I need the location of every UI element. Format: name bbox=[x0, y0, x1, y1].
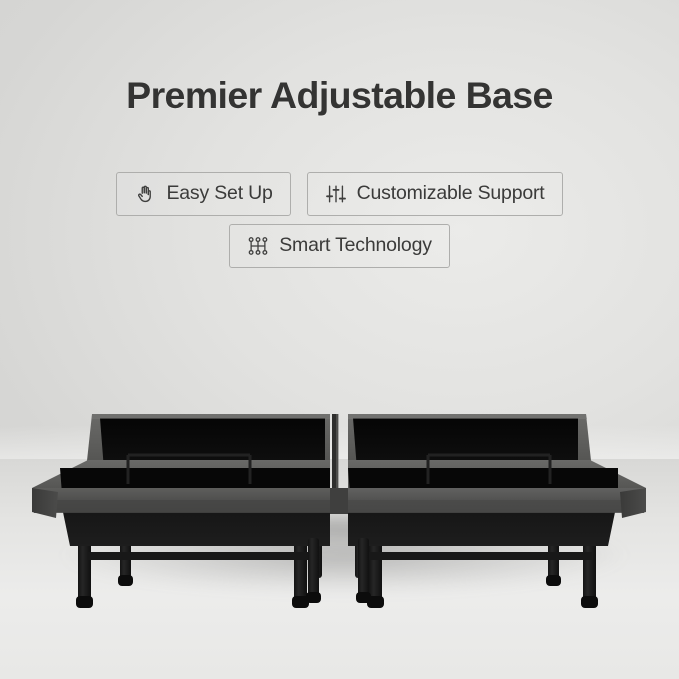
product-hero: Premier Adjustable Base Easy Set Up bbox=[0, 0, 679, 679]
leg-frame-center bbox=[306, 538, 371, 603]
product-image bbox=[0, 0, 679, 679]
platform-right bbox=[348, 414, 646, 518]
platform-left bbox=[32, 414, 330, 518]
